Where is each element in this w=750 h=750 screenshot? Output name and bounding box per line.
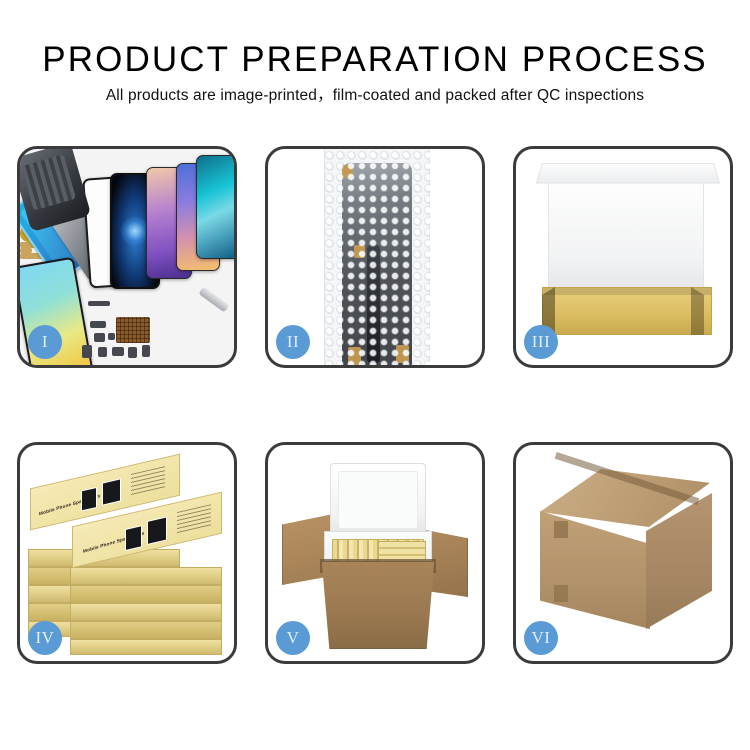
open-box-lid (548, 171, 704, 293)
box-spec-text-rear (131, 466, 165, 496)
process-steps-grid: I II III (17, 146, 733, 680)
connector-icon-bottom-left (348, 347, 361, 365)
step-badge-iii: III (524, 325, 558, 359)
small-chip-icon-3 (82, 345, 92, 358)
antenna-strip-icon (88, 301, 110, 306)
step-badge-vi: VI (524, 621, 558, 655)
small-chip-icon-4 (98, 347, 107, 357)
small-chip-icon-5 (112, 347, 124, 356)
stacked-box-slab-8 (70, 603, 222, 621)
step-panel-iii: III (513, 146, 733, 368)
page-title: PRODUCT PREPARATION PROCESS (0, 40, 750, 80)
box-window-front-1 (125, 525, 142, 551)
stacked-box-slab-10 (70, 567, 222, 585)
carton-tape-patch-bottom (554, 585, 568, 602)
teal-phone-screen-icon (196, 155, 234, 259)
box-window-rear-2 (102, 478, 121, 505)
step-badge-i: I (28, 325, 62, 359)
outer-carton-body (314, 561, 442, 649)
step-panel-iv: Mobile Phone Spare Parts Mobile Phone Sp… (17, 442, 237, 664)
small-chip-icon-8 (108, 333, 115, 340)
small-chip-icon-2 (94, 333, 105, 342)
step-badge-v: V (276, 621, 310, 655)
small-chip-icon-7 (142, 345, 150, 357)
step-panel-ii: II (265, 146, 485, 368)
connector-icon-bottom-right (396, 345, 409, 363)
small-chip-icon-1 (90, 321, 106, 328)
connector-icon-top (342, 165, 353, 178)
header: PRODUCT PREPARATION PROCESS All products… (0, 0, 750, 106)
stacked-box-slab-9 (70, 585, 222, 603)
box-window-rear-1 (81, 487, 97, 512)
page-subtitle: All products are image-printed，film-coat… (0, 86, 750, 106)
step-badge-iv: IV (28, 621, 62, 655)
logic-board-icon (116, 317, 150, 343)
step-panel-i: I (17, 146, 237, 368)
small-chip-icon-6 (128, 347, 137, 358)
yellow-box-base (542, 287, 712, 335)
stacked-box-slab-6 (70, 639, 222, 655)
step-panel-v: V (265, 442, 485, 664)
box-spec-text-front (177, 504, 211, 534)
step-panel-vi: VI (513, 442, 733, 664)
product-preparation-infographic: PRODUCT PREPARATION PROCESS All products… (0, 0, 750, 750)
connector-icon-middle (354, 245, 365, 258)
wrapped-flex-cable (367, 245, 380, 363)
carton-tape-patch-top (554, 521, 568, 538)
screwdriver-icon (198, 286, 229, 312)
foam-case-lid (330, 463, 426, 537)
step-badge-ii: II (276, 325, 310, 359)
box-side-right (691, 287, 704, 335)
box-window-front-2 (147, 516, 167, 545)
stacked-box-slab-7 (70, 621, 222, 639)
